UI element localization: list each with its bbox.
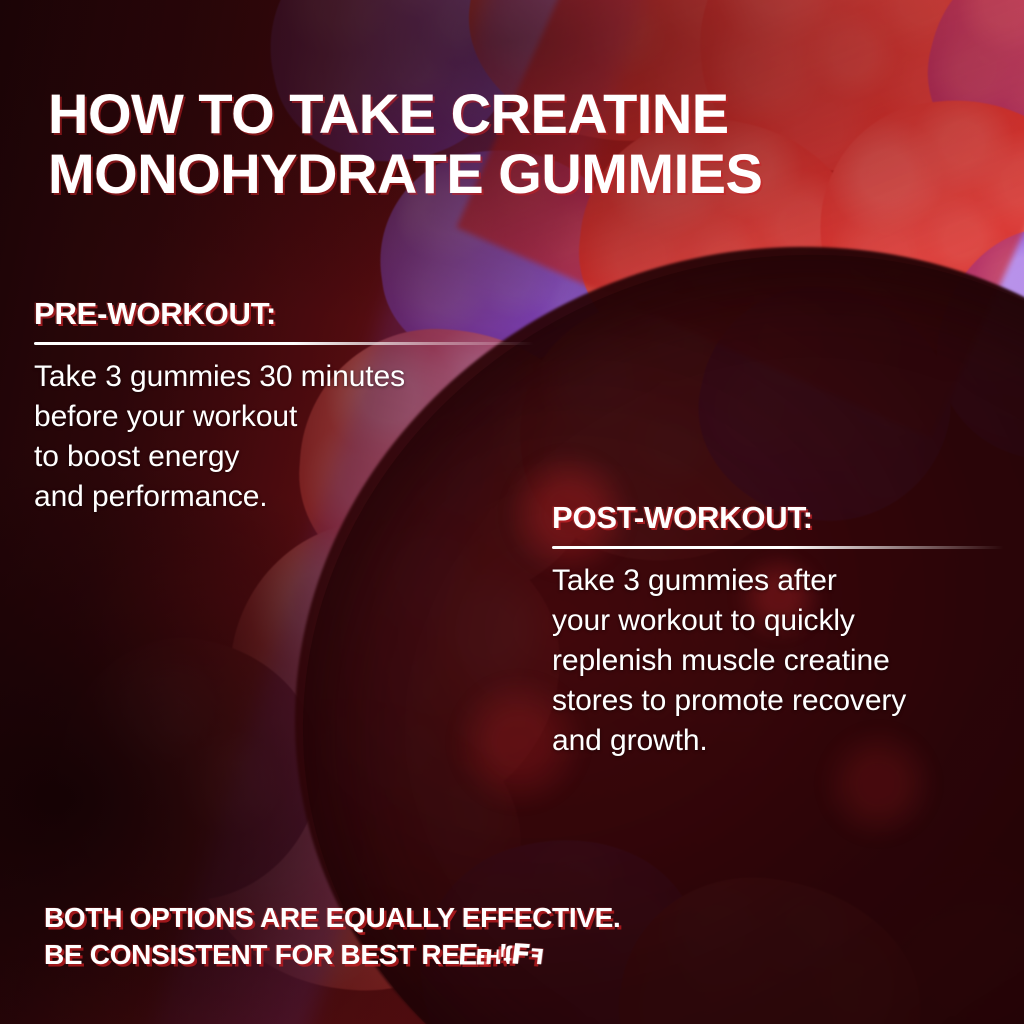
footer-glitch-artifact: EᴇʜꞋʇꟻꜰ (457, 937, 545, 974)
pre-workout-body-text: Take 3 gummies 30 minutes before your wo… (34, 357, 534, 517)
footer-line-2: BE CONSISTENT FOR BEST REEᴇʜꞋʇꟻꜰ (44, 937, 984, 974)
pre-workout-heading: PRE-WORKOUT: (34, 296, 534, 332)
post-workout-body-text: Take 3 gummies after your workout to qui… (552, 561, 1004, 760)
post-workout-heading: POST-WORKOUT: (552, 500, 1004, 536)
footer-line-2-text: BE CONSISTENT FOR BEST RE (44, 939, 460, 970)
page-title: HOW TO TAKE CREATINE MONOHYDRATE GUMMIES (48, 84, 948, 205)
poster-canvas: HOW TO TAKE CREATINE MONOHYDRATE GUMMIES… (0, 0, 1024, 1024)
footer-note: BOTH OPTIONS ARE EQUALLY EFFECTIVE. BE C… (44, 900, 984, 974)
post-workout-divider (552, 546, 1004, 549)
pre-workout-section: PRE-WORKOUT: Take 3 gummies 30 minutes b… (34, 296, 534, 517)
pre-workout-divider (34, 342, 534, 345)
footer-line-1: BOTH OPTIONS ARE EQUALLY EFFECTIVE. (44, 900, 984, 937)
post-workout-section: POST-WORKOUT: Take 3 gummies after your … (552, 500, 1004, 760)
